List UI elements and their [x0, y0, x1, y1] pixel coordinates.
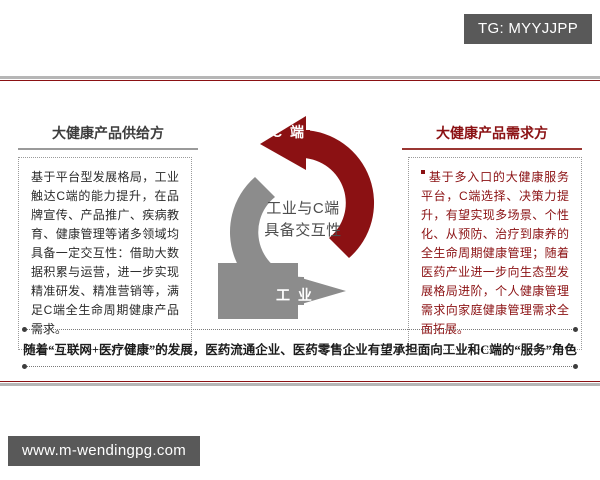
banner-dot-bottom-left	[22, 364, 27, 369]
cycle-label-industry-text: 工 业	[276, 287, 314, 303]
supply-side-panel: 基于平台型发展格局，工业触达C端的能力提升，在品牌宣传、产品推广、疾病教育、健康…	[18, 157, 192, 350]
cycle-label-c-end-text: C 端	[272, 124, 306, 140]
demand-side-heading: 大健康产品需求方	[402, 123, 582, 150]
interaction-cycle-diagram: C 端 工 业 工业与C端 具备交互性	[198, 95, 408, 340]
cycle-center-caption: 工业与C端 具备交互性	[198, 198, 408, 242]
infographic-figure: 大健康产品供给方 基于平台型发展格局，工业触达C端的能力提升，在品牌宣传、产品推…	[0, 76, 600, 386]
supply-side-heading-label: 大健康产品供给方	[52, 125, 164, 141]
demand-side-panel: 基于多入口的大健康服务平台，C端选择、决策力提升，有望实现多场景、个性化、从预防…	[408, 157, 582, 350]
site-watermark-label: www.m-wendingpg.com	[22, 442, 186, 459]
supply-side-body-text: 基于平台型发展格局，工业触达C端的能力提升，在品牌宣传、产品推广、疾病教育、健康…	[31, 170, 179, 336]
banner-dot-top-right	[573, 327, 578, 332]
cycle-center-line-2: 具备交互性	[198, 220, 408, 242]
demand-side-heading-label: 大健康产品需求方	[436, 125, 548, 141]
banner-dot-bottom-right	[573, 364, 578, 369]
tg-watermark-chip: TG: MYYJJPP	[464, 14, 592, 44]
demand-side-body-text: 基于多入口的大健康服务平台，C端选择、决策力提升，有望实现多场景、个性化、从预防…	[421, 170, 569, 336]
summary-banner: 随着“互联网+医疗健康”的发展，医药流通企业、医药零售企业有望承担面向工业和C端…	[24, 329, 576, 367]
supply-side-heading: 大健康产品供给方	[18, 123, 198, 150]
site-watermark-chip: www.m-wendingpg.com	[8, 436, 200, 466]
cycle-label-industry: 工 业	[276, 285, 314, 305]
tg-watermark-label: TG: MYYJJPP	[478, 20, 578, 37]
bullet-icon	[421, 170, 425, 174]
cycle-label-c-end: C 端	[272, 122, 306, 142]
cycle-center-line-1: 工业与C端	[198, 198, 408, 220]
summary-banner-text: 随着“互联网+医疗健康”的发展，医药流通企业、医药零售企业有望承担面向工业和C端…	[23, 339, 577, 358]
banner-dot-top-left	[22, 327, 27, 332]
